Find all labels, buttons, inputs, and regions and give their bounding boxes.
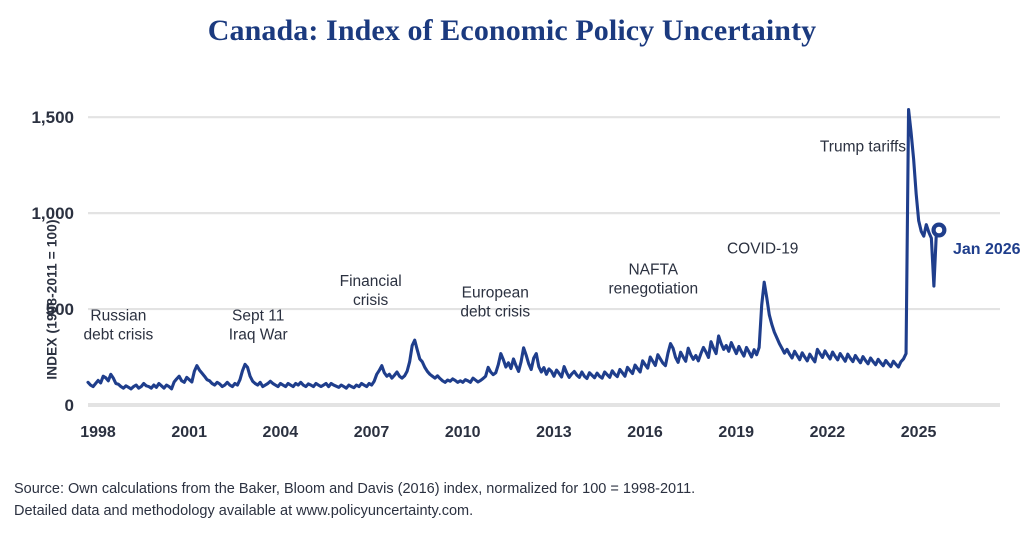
data-line-canada-epu (88, 110, 939, 389)
annotation-line: NAFTA (628, 262, 678, 279)
page-title: Canada: Index of Economic Policy Uncerta… (0, 14, 1024, 48)
x-tick-label: 2001 (171, 424, 207, 441)
annotation-russian-debt-crisis: Russiandebt crisis (84, 308, 154, 344)
y-axis-label: INDEX (1998-2011 = 100) (45, 200, 60, 400)
chart-root: Canada: Index of Economic Policy Uncerta… (0, 0, 1024, 543)
x-tick-label: 2007 (354, 424, 390, 441)
annotation-line: debt crisis (84, 327, 154, 344)
annotation-nafta-renegotiation: NAFTArenegotiation (608, 262, 698, 298)
annotation-line: Russian (90, 308, 146, 325)
source-note: Source: Own calculations from the Baker,… (14, 478, 1004, 523)
source-line-2: Detailed data and methodology available … (14, 500, 1004, 522)
annotation-european-debt-crisis: Europeandebt crisis (460, 285, 530, 321)
y-tick-label: 1,500 (31, 108, 74, 127)
source-line-1: Source: Own calculations from the Baker,… (14, 478, 1004, 500)
y-tick-label: 0 (65, 396, 74, 415)
annotation-trump-tariffs: Trump tariffs (820, 139, 906, 156)
x-tick-label: 2010 (445, 424, 481, 441)
annotation-line: Sept 11 (232, 308, 284, 325)
x-tick-label: 2004 (263, 424, 299, 441)
annotation-line: debt crisis (460, 304, 530, 321)
end-point-marker-center (936, 227, 943, 234)
annotation-sept-11-iraq-war: Sept 11Iraq War (229, 308, 288, 344)
annotation-line: crisis (353, 292, 389, 309)
annotation-line: Financial (340, 273, 402, 290)
annotation-line: Iraq War (229, 327, 288, 344)
x-tick-label: 2025 (901, 424, 937, 441)
annotation-line: Trump tariffs (820, 139, 906, 156)
annotation-financial-crisis: Financialcrisis (340, 273, 402, 309)
annotation-line: renegotiation (608, 281, 698, 298)
x-tick-label: 2019 (718, 424, 754, 441)
x-tick-label: 2016 (627, 424, 663, 441)
line-chart-svg: 05001,0001,50019982001200420072010201320… (0, 60, 1024, 460)
x-tick-label: 2013 (536, 424, 572, 441)
annotation-line: COVID-19 (727, 240, 799, 257)
x-tick-label: 1998 (80, 424, 116, 441)
plot-area: INDEX (1998-2011 = 100) 05001,0001,50019… (0, 60, 1024, 460)
x-tick-label: 2022 (810, 424, 846, 441)
annotation-covid-19: COVID-19 (727, 240, 799, 257)
end-point-label: Jan 2026 (953, 241, 1021, 258)
annotation-line: European (462, 285, 529, 302)
